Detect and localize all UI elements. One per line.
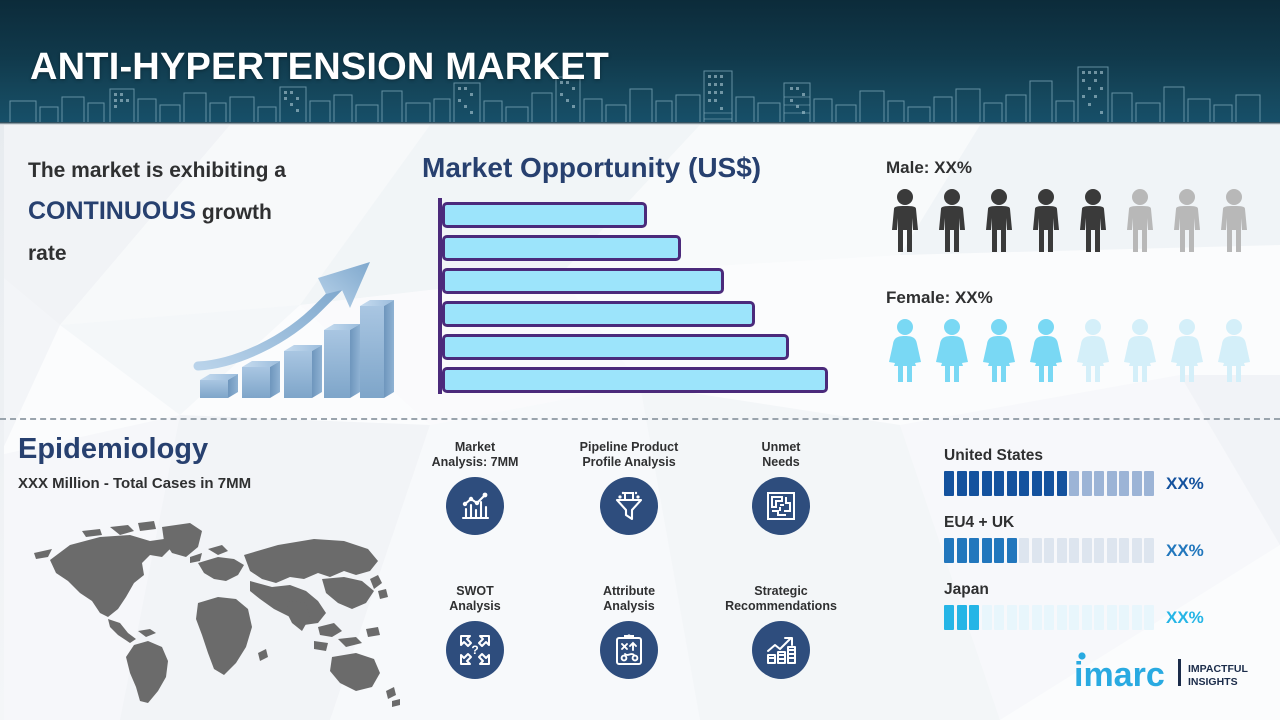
female-icon-row [886, 318, 1253, 384]
region-segment [957, 605, 967, 630]
funnel-icon[interactable] [600, 477, 658, 535]
region-segment [969, 538, 979, 563]
infographic-page: ANTI-HYPERTENSION MARKET The market is e… [0, 0, 1280, 720]
capability-label-line2: Analysis [449, 599, 500, 613]
region-segment [982, 605, 992, 630]
male-person-icon [1168, 188, 1206, 254]
svg-text:?: ? [471, 643, 478, 657]
region-segment [1007, 605, 1017, 630]
region-segment [1094, 605, 1104, 630]
capability-label: Attribute Analysis [554, 584, 704, 614]
region-segment [1132, 471, 1142, 496]
chart-bar [442, 235, 681, 261]
region-segment [1019, 605, 1029, 630]
region-segment [1069, 538, 1079, 563]
female-person-icon [933, 318, 971, 384]
region-segment [994, 538, 1004, 563]
female-person-icon [1215, 318, 1253, 384]
region-segment [969, 605, 979, 630]
female-person-icon [1215, 318, 1253, 384]
region-segment [1007, 538, 1017, 563]
capability-attribute-analysis[interactable]: Attribute Analysis [554, 584, 704, 679]
capability-label: SWOT Analysis [400, 584, 550, 614]
region-segment [1107, 471, 1117, 496]
epidemiology-subtitle: XXX Million - Total Cases in 7MM [18, 475, 251, 492]
region-segment-track [944, 605, 1154, 630]
capability-label-line2: Profile Analysis [582, 455, 675, 469]
region-segment [994, 471, 1004, 496]
female-person-icon [1027, 318, 1065, 384]
female-person-icon [933, 318, 971, 384]
region-percent: XX% [1166, 541, 1204, 561]
capability-label-line2: Analysis [603, 599, 654, 613]
capability-label: Pipeline Product Profile Analysis [554, 440, 704, 470]
capability-swot-analysis[interactable]: SWOT Analysis ? [400, 584, 550, 679]
male-person-icon [1027, 188, 1065, 254]
region-segment-track [944, 538, 1154, 563]
male-icon-row [886, 188, 1253, 254]
region-row-united-states: United States XX% [944, 447, 1234, 496]
region-segment [1119, 471, 1129, 496]
female-person-icon [1027, 318, 1065, 384]
capability-label-line1: Pipeline Product [580, 440, 679, 454]
chart-bar [442, 367, 828, 393]
region-segment [1069, 605, 1079, 630]
chart-axis-line [438, 198, 442, 394]
region-segment [1144, 605, 1154, 630]
region-label: Japan [944, 581, 1234, 599]
female-person-icon [980, 318, 1018, 384]
male-share-block: Male: XX% [886, 158, 1253, 254]
region-label: EU4 + UK [944, 514, 1234, 532]
female-person-icon [1121, 318, 1159, 384]
region-row-japan: Japan XX% [944, 581, 1234, 630]
clipboard-strategy-icon[interactable] [600, 621, 658, 679]
male-person-icon [1215, 188, 1253, 254]
capability-label-line1: Strategic [754, 584, 808, 598]
female-person-icon [1074, 318, 1112, 384]
region-segment [944, 538, 954, 563]
section-divider [0, 418, 1280, 420]
male-person-icon [1074, 188, 1112, 254]
male-person-icon [1074, 188, 1112, 254]
headline-accent: CONTINUOUS [28, 197, 196, 225]
capability-label: Market Analysis: 7MM [400, 440, 550, 470]
region-segment [1057, 538, 1067, 563]
left-edge-rail [0, 125, 4, 720]
region-segment [1057, 471, 1067, 496]
header-banner: ANTI-HYPERTENSION MARKET [0, 0, 1280, 125]
chart-bar [442, 202, 647, 228]
male-person-icon [1168, 188, 1206, 254]
headline-line2: growth [196, 201, 272, 224]
capability-label-line1: Attribute [603, 584, 655, 598]
chart-bar [442, 268, 724, 294]
region-segment [944, 605, 954, 630]
female-share-block: Female: XX% [886, 288, 1253, 384]
market-opportunity-chart [438, 198, 828, 394]
female-person-icon [980, 318, 1018, 384]
region-segment [1132, 605, 1142, 630]
region-segment [1094, 538, 1104, 563]
logo-wordmark: imarc [1074, 656, 1165, 694]
region-segment [957, 538, 967, 563]
female-label: Female: XX% [886, 288, 1253, 308]
capability-strategic-recommendations[interactable]: Strategic Recommendations [706, 584, 856, 679]
capability-label: Strategic Recommendations [706, 584, 856, 614]
capability-label-line2: Analysis: 7MM [432, 455, 519, 469]
region-percent: XX% [1166, 474, 1204, 494]
female-person-icon [886, 318, 924, 384]
region-segment [1107, 605, 1117, 630]
headline-line1: The market is exhibiting a [28, 159, 286, 182]
logo-tagline-line1: IMPACTFUL [1188, 663, 1248, 675]
region-segment [1032, 605, 1042, 630]
region-segment [957, 471, 967, 496]
region-segment [1082, 471, 1092, 496]
region-segment [1132, 538, 1142, 563]
male-person-icon [1121, 188, 1159, 254]
male-person-icon [1121, 188, 1159, 254]
bar-chart-line-icon[interactable] [446, 477, 504, 535]
region-segment [1082, 605, 1092, 630]
market-opportunity-title: Market Opportunity (US$) [422, 152, 761, 184]
capability-label-line1: SWOT [456, 584, 494, 598]
male-label: Male: XX% [886, 158, 1253, 178]
capability-label-line2: Recommendations [725, 599, 837, 613]
epidemiology-title: Epidemiology [18, 433, 208, 466]
capability-pipeline-product-profile[interactable]: Pipeline Product Profile Analysis [554, 440, 704, 535]
headline-line3: rate [28, 242, 67, 265]
ascending-bar-chart-with-arrow-icon [190, 250, 395, 410]
region-percent: XX% [1166, 608, 1204, 628]
region-segment [982, 471, 992, 496]
chart-bar [442, 334, 789, 360]
female-person-icon [886, 318, 924, 384]
region-segment [982, 538, 992, 563]
male-person-icon [980, 188, 1018, 254]
male-person-icon [886, 188, 924, 254]
region-segment [1032, 471, 1042, 496]
capability-label: Unmet Needs [706, 440, 856, 470]
capability-market-analysis[interactable]: Market Analysis: 7MM [400, 440, 550, 535]
region-segment-track [944, 471, 1154, 496]
capability-label-line1: Unmet [762, 440, 801, 454]
female-person-icon [1121, 318, 1159, 384]
male-person-icon [886, 188, 924, 254]
female-person-icon [1168, 318, 1206, 384]
capability-label-line1: Market [455, 440, 495, 454]
region-segment [1044, 605, 1054, 630]
region-segment [1119, 538, 1129, 563]
region-segment [1032, 538, 1042, 563]
region-label: United States [944, 447, 1234, 465]
region-segment [1144, 538, 1154, 563]
region-segment [1119, 605, 1129, 630]
male-person-icon [1215, 188, 1253, 254]
chart-bar [442, 301, 755, 327]
maze-icon[interactable] [752, 477, 810, 535]
region-segment [969, 471, 979, 496]
male-person-icon [1027, 188, 1065, 254]
region-segment [1057, 605, 1067, 630]
region-segment [1019, 538, 1029, 563]
region-segment [1144, 471, 1154, 496]
region-segment [1094, 471, 1104, 496]
region-segment [1107, 538, 1117, 563]
female-person-icon [1168, 318, 1206, 384]
region-segment [1007, 471, 1017, 496]
region-segment [1069, 471, 1079, 496]
male-person-icon [980, 188, 1018, 254]
swot-arrows-question-icon[interactable]: ? [446, 621, 504, 679]
region-segment [994, 605, 1004, 630]
capability-label-line2: Needs [762, 455, 800, 469]
male-person-icon [933, 188, 971, 254]
region-segment [1044, 538, 1054, 563]
logo-tagline-line2: INSIGHTS [1188, 676, 1238, 688]
region-segment [944, 471, 954, 496]
female-person-icon [1074, 318, 1112, 384]
region-segment [1082, 538, 1092, 563]
world-map-icon [22, 505, 412, 710]
region-segment [1044, 471, 1054, 496]
imarc-logo[interactable]: imarc IMPACTFUL INSIGHTS [1070, 648, 1260, 696]
male-person-icon [933, 188, 971, 254]
capability-unmet-needs[interactable]: Unmet Needs [706, 440, 856, 535]
region-segment [1019, 471, 1029, 496]
region-row-eu4-uk: EU4 + UK XX% [944, 514, 1234, 563]
page-title: ANTI-HYPERTENSION MARKET [30, 46, 609, 89]
growth-arrow-bars-icon[interactable] [752, 621, 810, 679]
logo-separator [1178, 659, 1181, 686]
